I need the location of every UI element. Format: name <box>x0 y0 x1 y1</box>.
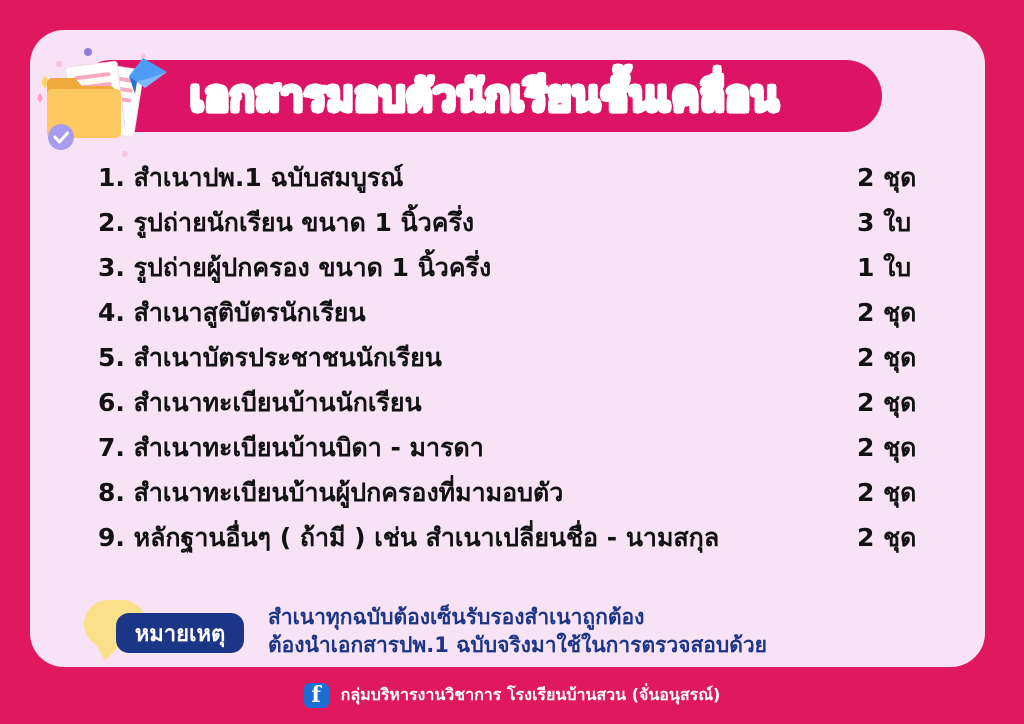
list-item-quantity: 2 ชุด <box>857 518 937 558</box>
list-item-label: 2. รูปถ่ายนักเรียน ขนาด 1 นิ้วครึ่ง <box>98 203 474 243</box>
footer-bar: f กลุ่มบริหารงานวิชาการ โรงเรียนบ้านสวน … <box>0 667 1024 724</box>
list-item-label: 4. สำเนาสูติบัตรนักเรียน <box>98 293 366 333</box>
list-item-label: 5. สำเนาบัตรประชาชนนักเรียน <box>98 338 442 378</box>
note-badge: หมายเหตุ <box>116 613 244 653</box>
facebook-icon[interactable]: f <box>304 683 329 708</box>
list-item-label: 6. สำเนาทะเบียนบ้านนักเรียน <box>98 383 422 423</box>
folder-documents-illustration <box>30 38 175 163</box>
list-item: 1. สำเนาปพ.1 ฉบับสมบูรณ์ 2 ชุด <box>30 158 985 203</box>
main-card: เอกสารมอบตัวนักเรียนชั้นเคลื่อน <box>30 30 985 667</box>
list-item-quantity: 2 ชุด <box>857 293 937 333</box>
note-line: ต้องนำเอกสารปพ.1 ฉบับจริงมาใช้ในการตรวจส… <box>268 631 767 659</box>
list-item-label: 3. รูปถ่ายผู้ปกครอง ขนาด 1 นิ้วครึ่ง <box>98 248 491 288</box>
list-item: 8. สำเนาทะเบียนบ้านผู้ปกครองที่มามอบตัว … <box>30 473 985 518</box>
note-line: สำเนาทุกฉบับต้องเซ็นรับรองสำเนาถูกต้อง <box>268 603 767 631</box>
page-title: เอกสารมอบตัวนักเรียนชั้นเคลื่อน <box>190 64 779 129</box>
list-item-label: 1. สำเนาปพ.1 ฉบับสมบูรณ์ <box>98 158 404 198</box>
list-item-quantity: 2 ชุด <box>857 338 937 378</box>
note-badge-group: หมายเหตุ <box>78 600 253 662</box>
note-section: หมายเหตุ สำเนาทุกฉบับต้องเซ็นรับรองสำเนา… <box>30 600 985 667</box>
list-item-quantity: 3 ใบ <box>857 203 937 243</box>
note-badge-label: หมายเหตุ <box>135 616 226 651</box>
list-item: 5. สำเนาบัตรประชาชนนักเรียน 2 ชุด <box>30 338 985 383</box>
list-item-quantity: 1 ใบ <box>857 248 937 288</box>
footer-credit-text: กลุ่มบริหารงานวิชาการ โรงเรียนบ้านสวน (จ… <box>341 683 721 708</box>
list-item-label: 8. สำเนาทะเบียนบ้านผู้ปกครองที่มามอบตัว <box>98 473 563 513</box>
list-item-label: 9. หลักฐานอื่นๆ ( ถ้ามี ) เช่น สำเนาเปลี… <box>98 518 719 558</box>
list-item-quantity: 2 ชุด <box>857 473 937 513</box>
note-text: สำเนาทุกฉบับต้องเซ็นรับรองสำเนาถูกต้อง ต… <box>268 603 767 659</box>
list-item: 9. หลักฐานอื่นๆ ( ถ้ามี ) เช่น สำเนาเปลี… <box>30 518 985 563</box>
list-item-quantity: 2 ชุด <box>857 428 937 468</box>
title-banner: เอกสารมอบตัวนักเรียนชั้นเคลื่อน <box>75 60 882 132</box>
list-item-quantity: 2 ชุด <box>857 383 937 423</box>
list-item: 6. สำเนาทะเบียนบ้านนักเรียน 2 ชุด <box>30 383 985 428</box>
list-item: 4. สำเนาสูติบัตรนักเรียน 2 ชุด <box>30 293 985 338</box>
list-item: 2. รูปถ่ายนักเรียน ขนาด 1 นิ้วครึ่ง 3 ใบ <box>30 203 985 248</box>
header: เอกสารมอบตัวนักเรียนชั้นเคลื่อน <box>30 30 985 140</box>
document-list: 1. สำเนาปพ.1 ฉบับสมบูรณ์ 2 ชุด 2. รูปถ่า… <box>30 158 985 563</box>
list-item: 7. สำเนาทะเบียนบ้านบิดา - มารดา 2 ชุด <box>30 428 985 473</box>
facebook-glyph: f <box>304 682 329 709</box>
list-item-quantity: 2 ชุด <box>857 158 937 198</box>
list-item-label: 7. สำเนาทะเบียนบ้านบิดา - มารดา <box>98 428 484 468</box>
list-item: 3. รูปถ่ายผู้ปกครอง ขนาด 1 นิ้วครึ่ง 1 ใ… <box>30 248 985 293</box>
